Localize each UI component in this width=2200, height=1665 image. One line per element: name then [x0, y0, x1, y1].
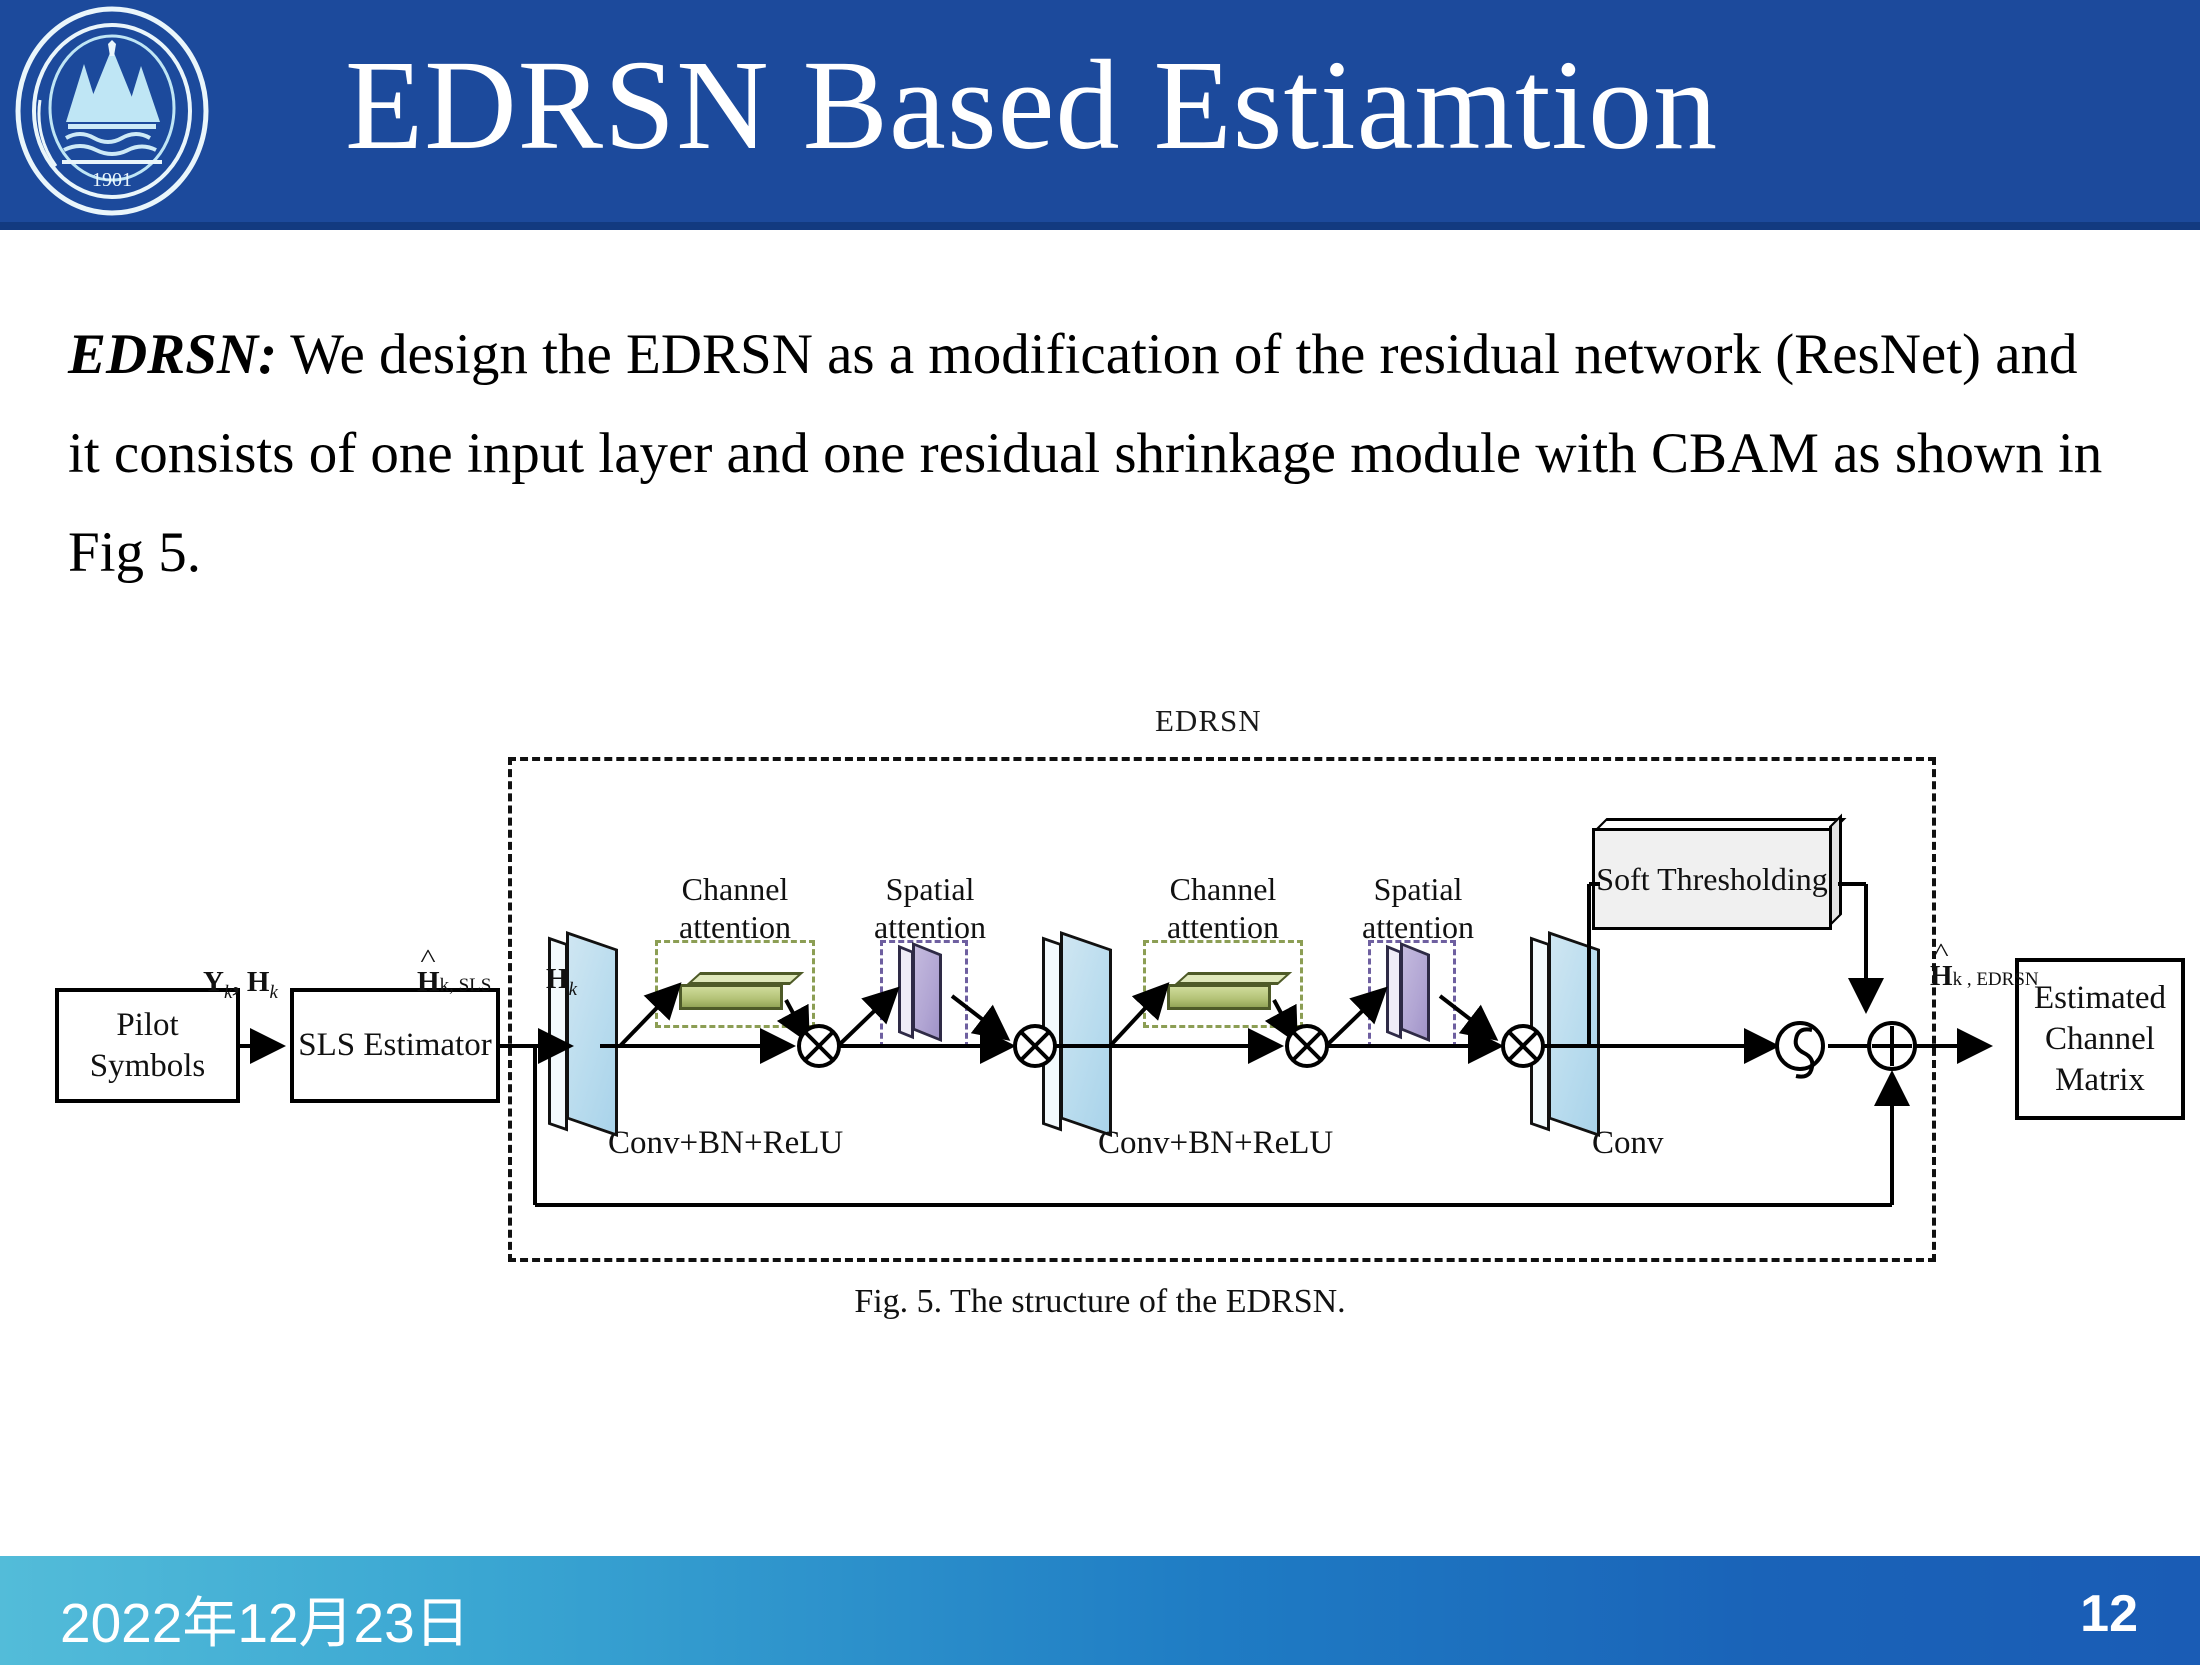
pilot-symbols-box: Pilot Symbols: [55, 988, 240, 1103]
footer-page-number: 12: [2080, 1584, 2138, 1644]
footer-date: 2022年12月23日: [60, 1578, 470, 1658]
body-lead: EDRSN:: [68, 323, 277, 386]
conv-slab-2-edge: [1042, 937, 1062, 1132]
signal-y-sub: k: [224, 982, 232, 1003]
signal-label-output: Hk , EDRSN: [1930, 960, 2039, 993]
signal-h: H: [247, 966, 270, 998]
conv-slab-3-label: Conv: [1592, 1125, 1664, 1162]
body-paragraph-text: We design the EDRSN as a modification of…: [68, 323, 2102, 584]
signal-label-input: Yk, Hk: [203, 966, 278, 1004]
conv-slab-2: [1042, 940, 1114, 1128]
spatial-attention-2-label: Spatial attention: [1328, 870, 1508, 946]
figure-caption: Fig. 5. The structure of the EDRSN.: [0, 1283, 2200, 1321]
header-underline: [0, 222, 2200, 230]
spatial-attention-1-slab-face: [912, 942, 942, 1042]
signal-label-skip: Hk: [546, 963, 577, 1001]
channel-attention-1-bar: [679, 984, 783, 1010]
conv-slab-3: [1530, 940, 1602, 1128]
channel-attention-2-bar: [1167, 984, 1271, 1010]
shandong-university-seal-logo: 1901: [10, 4, 215, 219]
conv-slab-3-face: [1548, 931, 1600, 1137]
conv-slab-3-edge: [1530, 937, 1550, 1132]
conv-slab-2-label: Conv+BN+ReLU: [1098, 1125, 1333, 1162]
sls-estimator-box: SLS Estimator: [290, 988, 500, 1103]
conv-slab-1-face: [566, 931, 618, 1137]
spatial-attention-2-slab: [1386, 948, 1434, 1036]
signal-h-skip: H: [546, 963, 569, 995]
edrsn-module-label: EDRSN: [1155, 703, 1262, 739]
signal-label-sls-output: Hk, SLS: [417, 966, 491, 999]
conv-slab-1-label: Conv+BN+ReLU: [608, 1125, 843, 1162]
conv-slab-2-face: [1060, 931, 1112, 1137]
signal-hhat-edrsn-sub: k , EDRSN: [1953, 969, 2039, 990]
channel-attention-2-label: Channel attention: [1128, 870, 1318, 946]
signal-y: Y: [203, 966, 224, 998]
signal-hhat-sls-sub: k, SLS: [440, 975, 492, 996]
signal-hhat-sls: H: [417, 966, 440, 998]
page-title: EDRSN Based Estiamtion: [345, 30, 2045, 180]
signal-h-sub: k: [269, 982, 277, 1003]
soft-thresholding-box: Soft Thresholding: [1592, 828, 1832, 930]
spatial-attention-1-slab: [898, 948, 946, 1036]
seal-year: 1901: [92, 169, 132, 191]
signal-hhat-edrsn: H: [1930, 960, 1953, 992]
spatial-attention-1-label: Spatial attention: [840, 870, 1020, 946]
signal-h-skip-sub: k: [569, 979, 577, 1000]
spatial-attention-2-slab-face: [1400, 942, 1430, 1042]
body-paragraph: EDRSN: We design the EDRSN as a modifica…: [68, 305, 2108, 602]
estimated-channel-matrix-box: Estimated Channel Matrix: [2015, 958, 2185, 1120]
channel-attention-1-label: Channel attention: [640, 870, 830, 946]
